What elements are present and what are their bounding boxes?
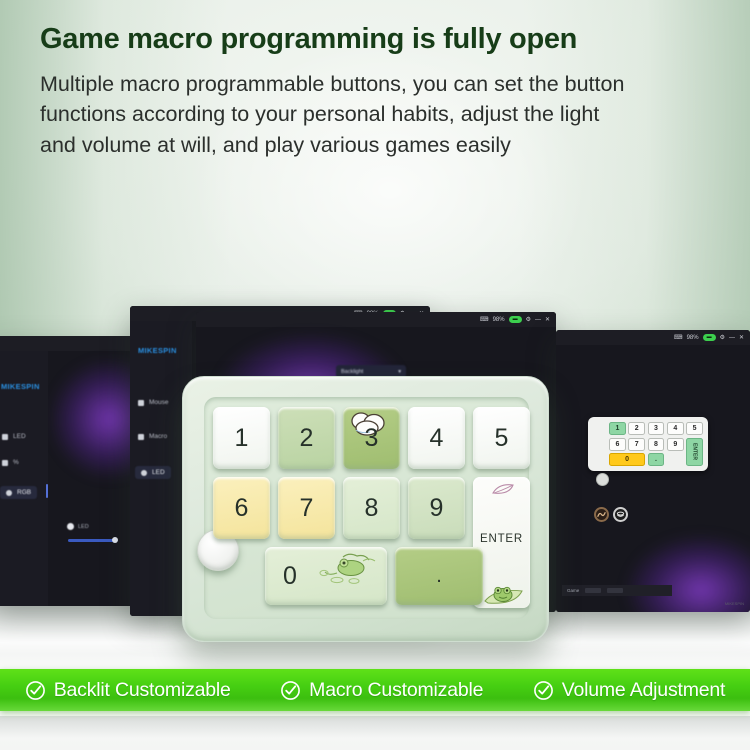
preview-key[interactable]: 1 [609,422,626,435]
key-label: 0 [283,562,297,591]
gear-icon[interactable]: ⚙ [720,335,725,341]
active-indicator [46,484,48,498]
close-icon[interactable]: ✕ [739,335,744,341]
key-4[interactable]: 4 [408,407,465,469]
brand-logo: MIKESPIN [1,382,40,391]
sidebar-item-label: LED [152,469,165,476]
watermark: MIKESPIN [725,601,744,606]
preview-knob[interactable] [596,473,609,486]
preview-key[interactable]: 3 [648,422,665,435]
keyboard-icon: ⌨ [480,317,489,323]
brand-logo: MIKESPIN [138,346,177,355]
battery-icon: ▬ [703,334,716,341]
minimize-icon[interactable]: — [535,317,541,323]
led-icon [141,470,147,476]
key-2[interactable]: 2 [278,407,335,469]
sidebar-item-label: LED [13,433,26,440]
battery-icon: ▬ [509,316,522,323]
taskbar-label: Game [567,588,579,593]
key-5[interactable]: 5 [473,407,530,469]
preview-key[interactable]: 9 [667,438,684,451]
preview-keypad: 1 2 3 4 5 6 7 8 9 ENTER 0 . [588,417,708,471]
preview-icon-row [594,507,628,522]
key-3[interactable]: 3 [343,407,400,469]
preview-key[interactable]: 4 [667,422,684,435]
led-icon [2,434,8,440]
keypad-device: 1 2 3 4 5 6 7 8 9 [182,376,549,642]
keyboard-icon: ⌨ [674,335,683,341]
minimize-icon[interactable]: — [729,335,735,341]
preview-key[interactable]: 6 [609,438,626,451]
stack-icon[interactable] [613,507,628,522]
feature-label: Volume Adjustment [562,679,726,702]
taskbar-chip[interactable] [607,588,623,593]
frog-illustration [313,551,379,585]
floor-edge-line [0,716,750,738]
chevron-down-icon: ▾ [398,369,401,375]
key-0[interactable]: 0 [265,547,387,605]
titlebar-right: ⌨ 98% ▬ ⚙ — ✕ [556,330,750,345]
sidebar-item-page[interactable]: % [2,459,19,466]
sidebar-item-label: % [13,459,19,466]
key-period[interactable]: . [395,547,483,605]
preview-key[interactable]: 2 [628,422,645,435]
sidebar-item-rgb[interactable]: RGB [0,486,37,499]
feature-backlit: Backlit Customizable [25,679,231,702]
rgb-icon [6,490,12,496]
sidebar-item-label: Macro [149,433,167,440]
key-enter-label: ENTER [480,533,523,545]
gear-icon[interactable]: ⚙ [526,317,531,323]
screen-right: 1 2 3 4 5 6 7 8 9 ENTER 0 . [556,345,750,612]
taskbar: Game [562,585,672,596]
wave-icon[interactable] [594,507,609,522]
preview-key[interactable]: . [648,453,665,466]
titlebar-center-main: ⌨ 98% ▬ ⚙ — ✕ [196,312,556,327]
frog-on-leaf-icon [482,582,522,604]
key-9[interactable]: 9 [408,477,465,539]
check-circle-icon [280,680,301,701]
slider-handle[interactable] [112,537,118,543]
preview-key-grid: 1 2 3 4 5 6 7 8 9 ENTER 0 . [609,422,703,466]
preview-key[interactable]: 0 [609,453,645,466]
preview-key[interactable]: 5 [686,422,703,435]
sidebar-item-label: RGB [17,489,31,496]
led-icon [67,523,74,530]
close-icon[interactable]: ✕ [545,317,550,323]
leaf-icon [491,483,513,495]
key-7[interactable]: 7 [278,477,335,539]
preview-key[interactable]: 8 [648,438,665,451]
key-6[interactable]: 6 [213,477,270,539]
feature-volume: Volume Adjustment [533,679,726,702]
key-1[interactable]: 1 [213,407,270,469]
feature-label: Backlit Customizable [54,679,231,702]
key-8[interactable]: 8 [343,477,400,539]
feature-macro: Macro Customizable [280,679,483,702]
preview-key-enter[interactable]: ENTER [686,438,703,467]
battery-percent: 98% [493,317,505,323]
sidebar-item-label: Mouse [149,399,169,406]
sidebar-item-macro[interactable]: Macro [138,433,167,440]
check-circle-icon [533,680,554,701]
led-brightness-slider[interactable] [68,539,116,542]
sidebar-item-led[interactable]: LED [135,466,171,479]
battery-percent: 98% [687,335,699,341]
mouse-icon [138,400,144,406]
feature-label: Macro Customizable [309,679,483,702]
led-slider-label-row: LED [67,523,89,530]
dropdown-value: Backlight [341,369,363,375]
preview-key[interactable]: 7 [628,438,645,451]
sidebar-item-led[interactable]: LED [2,433,26,440]
key-grid: 1 2 3 4 5 6 7 8 9 [213,407,525,607]
feature-bar: Backlit Customizable Macro Customizable … [0,669,750,711]
macro-icon [138,434,144,440]
taskbar-chip[interactable] [585,588,601,593]
page-icon [2,460,8,466]
sidebar-item-mouse[interactable]: Mouse [138,399,169,406]
check-circle-icon [25,680,46,701]
monitor-right: ⌨ 98% ▬ ⚙ — ✕ 1 2 3 4 5 6 7 [556,330,750,612]
key-label: 3 [365,424,379,453]
slider-label: LED [78,524,89,530]
